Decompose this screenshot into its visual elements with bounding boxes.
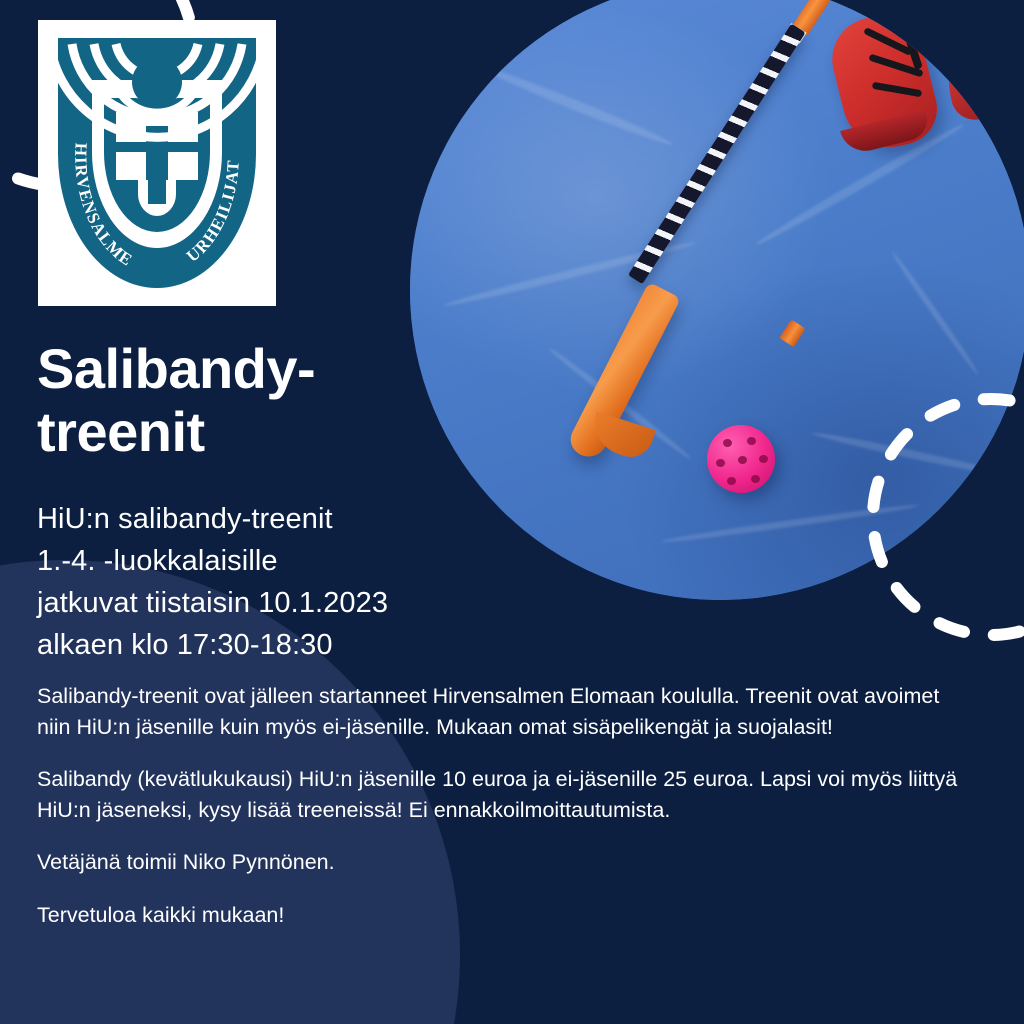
body-copy: Salibandy-treenit ovat jälleen startanne… [37, 681, 967, 930]
headline-line-2: treenit [37, 401, 437, 464]
headline-line-1: Salibandy- [37, 338, 437, 401]
subhead-line-2: 1.-4. -luokkalaisille [37, 540, 477, 582]
stick-shaft [628, 23, 806, 284]
dashed-arc-decoration-bottom-right [866, 392, 1024, 642]
subhead-line-1: HiU:n salibandy-treenit [37, 498, 477, 540]
body-paragraph-2: Salibandy (kevätlukukausi) HiU:n jäsenil… [37, 764, 967, 825]
subhead-line-4: alkaen klo 17:30-18:30 [37, 624, 477, 666]
event-summary: HiU:n salibandy-treenit 1.-4. -luokkalai… [37, 498, 477, 666]
club-logo: HIRVENSALMEN URHEILIJAT [38, 20, 276, 306]
body-paragraph-1: Salibandy-treenit ovat jälleen startanne… [37, 681, 967, 742]
poster-canvas: HIRVENSALMEN URHEILIJAT Salibandy- treen… [0, 0, 1024, 1024]
page-title: Salibandy- treenit [37, 338, 437, 463]
body-paragraph-4: Tervetuloa kaikki mukaan! [37, 900, 667, 931]
logo-head-circle [132, 57, 182, 107]
stick-neck [779, 319, 805, 347]
floorball-ball [707, 425, 775, 493]
subhead-line-3: jatkuvat tiistaisin 10.1.2023 [37, 582, 477, 624]
body-paragraph-3: Vetäjänä toimii Niko Pynnönen. [37, 847, 667, 878]
hirvensalmen-urheilijat-shield-icon: HIRVENSALMEN URHEILIJAT [38, 20, 276, 306]
